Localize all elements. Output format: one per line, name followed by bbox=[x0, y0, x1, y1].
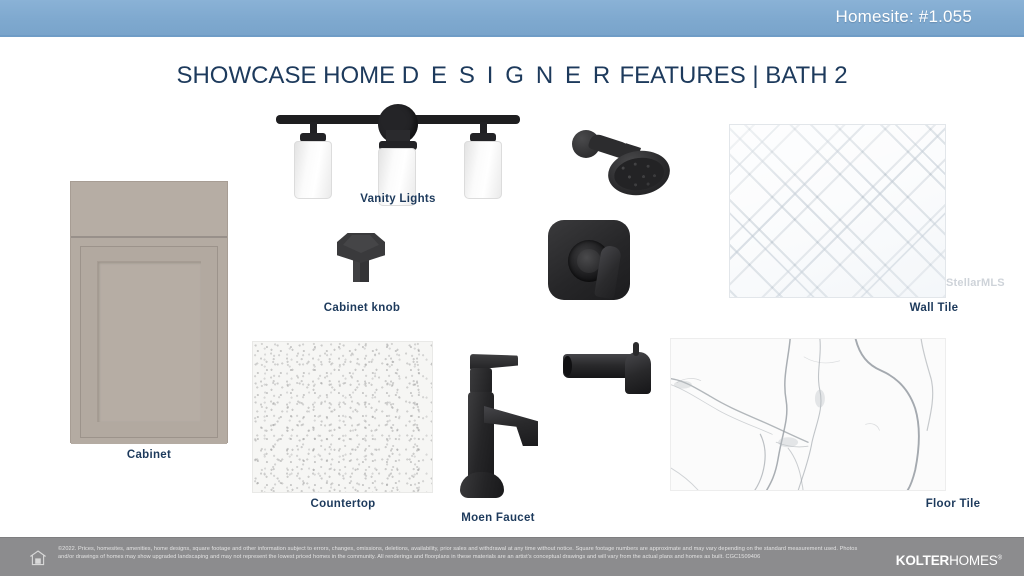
label-vanity-lights: Vanity Lights bbox=[333, 193, 463, 205]
label-countertop: Countertop bbox=[283, 498, 403, 510]
cabinet-door-frame bbox=[80, 246, 218, 438]
page-title-part2: D E S I G N E R bbox=[402, 62, 613, 89]
label-cabinet: Cabinet bbox=[89, 449, 209, 461]
floor-tile-swatch bbox=[670, 338, 946, 491]
shower-valve-image bbox=[548, 220, 644, 312]
faucet-body bbox=[468, 392, 494, 478]
page-title-part3: FEATURES | BATH 2 bbox=[613, 62, 848, 89]
countertop-speckle-texture bbox=[253, 342, 432, 492]
page-title-part1: SHOWCASE HOME bbox=[176, 62, 401, 89]
faucet-handle-stem bbox=[470, 368, 492, 394]
shower-head-spray-face bbox=[612, 155, 666, 194]
label-wall-tile: Wall Tile bbox=[874, 302, 994, 314]
faucet-base bbox=[460, 472, 504, 498]
brand-light-text: HOMES bbox=[949, 553, 998, 568]
cabinet-door-front bbox=[71, 240, 227, 444]
vanity-light-shade-left bbox=[294, 141, 332, 199]
page-title: SHOWCASE HOME D E S I G N E R FEATURES |… bbox=[0, 62, 1024, 90]
cabinet-knob-image bbox=[333, 233, 391, 291]
kolter-homes-logo: KOLTERHOMES® bbox=[896, 553, 1002, 568]
label-floor-tile: Floor Tile bbox=[893, 498, 1013, 510]
shower-head-image bbox=[562, 118, 678, 196]
stellar-mls-watermark: StellarMLS bbox=[946, 277, 1005, 289]
floor-tile-marble-veining bbox=[671, 339, 945, 491]
footer-disclaimer-text: ©2022. Prices, homesites, amenities, hom… bbox=[58, 545, 868, 561]
tub-spout-nose bbox=[625, 352, 651, 394]
slide-root: Homesite: #1.055 SHOWCASE HOME D E S I G… bbox=[0, 0, 1024, 576]
countertop-swatch bbox=[252, 341, 433, 493]
tub-spout-wall-end bbox=[563, 356, 572, 376]
cabinet-swatch bbox=[70, 181, 228, 443]
header-band: Homesite: #1.055 bbox=[0, 0, 1024, 37]
wall-tile-gloss-overlay bbox=[730, 125, 945, 297]
label-moen-faucet: Moen Faucet bbox=[438, 512, 558, 524]
wall-tile-swatch bbox=[729, 124, 946, 298]
label-cabinet-knob: Cabinet knob bbox=[302, 302, 422, 314]
brand-trademark-symbol: ® bbox=[998, 556, 1002, 562]
cabinet-door-panel bbox=[97, 261, 201, 422]
moen-faucet-image bbox=[458, 354, 550, 504]
homesite-label: Homesite: #1.055 bbox=[836, 7, 972, 27]
equal-housing-opportunity-icon bbox=[30, 550, 46, 566]
tub-spout-image bbox=[563, 348, 659, 400]
cabinet-drawer-front bbox=[71, 182, 227, 238]
brand-bold-text: KOLTER bbox=[896, 553, 949, 568]
vanity-lights-image bbox=[272, 100, 524, 192]
tub-spout-diverter-pin bbox=[633, 342, 639, 356]
vanity-light-shade-right bbox=[464, 141, 502, 199]
